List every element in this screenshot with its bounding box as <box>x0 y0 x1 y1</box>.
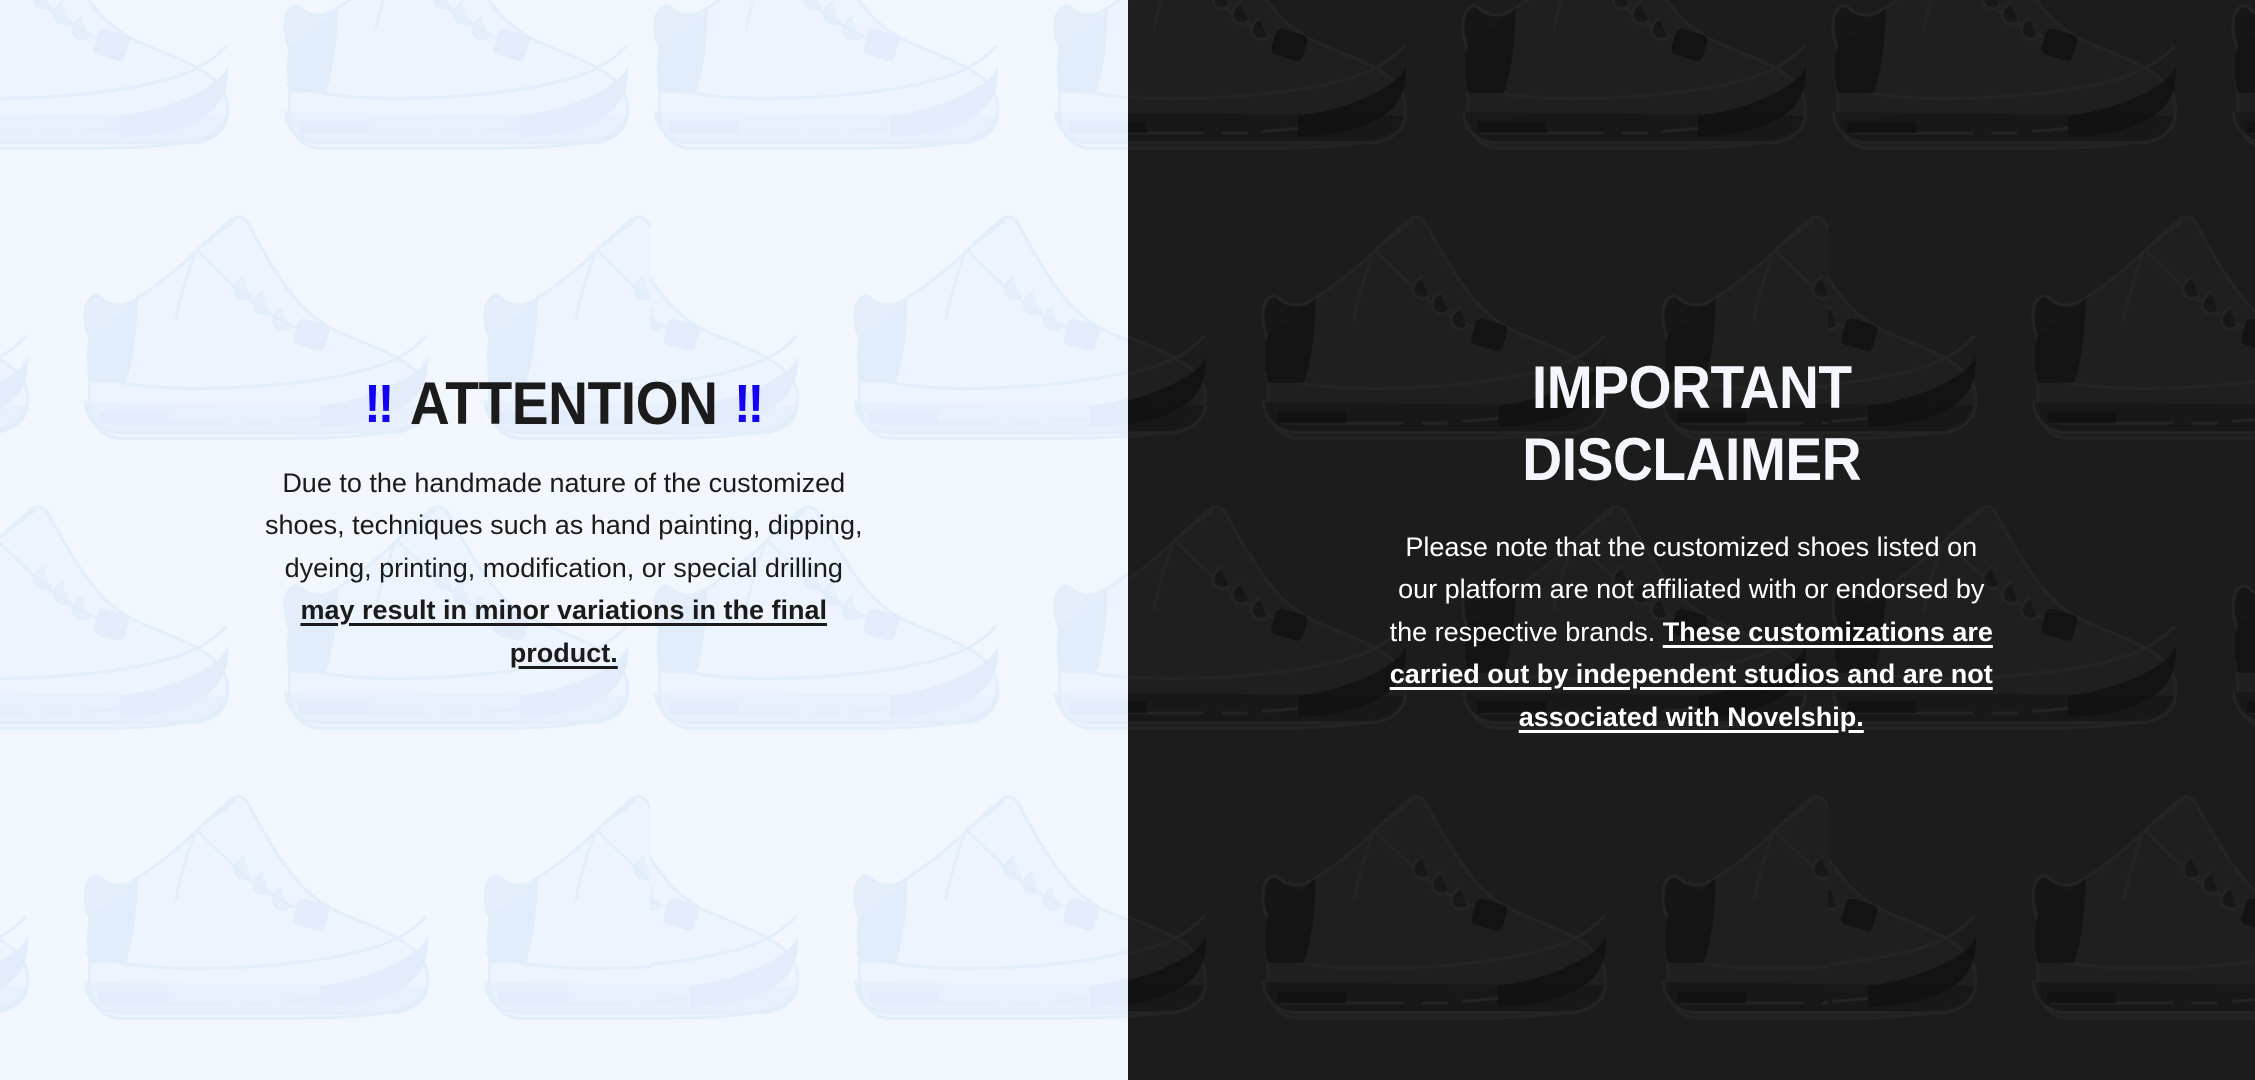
attention-body-normal: Due to the handmade nature of the custom… <box>265 468 862 583</box>
split-banner: ‼ATTENTION‼ Due to the handmade nature o… <box>0 0 2255 1080</box>
disclaimer-heading: IMPORTANT DISCLAIMER <box>1173 352 2210 496</box>
disclaimer-content: IMPORTANT DISCLAIMER Please note that th… <box>1128 0 2255 738</box>
disclaimer-body: Please note that the customized shoes li… <box>1386 526 1996 738</box>
double-exclamation-mark-icon: ‼ <box>364 377 393 431</box>
disclaimer-heading-line2: DISCLAIMER <box>1522 426 1861 493</box>
double-exclamation-mark-icon: ‼ <box>734 377 763 431</box>
attention-panel: ‼ATTENTION‼ Due to the handmade nature o… <box>0 0 1128 1080</box>
attention-content: ‼ATTENTION‼ Due to the handmade nature o… <box>0 0 1128 674</box>
disclaimer-panel: IMPORTANT DISCLAIMER Please note that th… <box>1128 0 2255 1080</box>
attention-body: Due to the handmade nature of the custom… <box>264 462 864 674</box>
attention-body-emphasis: may result in minor variations in the fi… <box>300 595 827 667</box>
disclaimer-heading-line1: IMPORTANT <box>1531 354 1851 421</box>
attention-heading-text: ATTENTION <box>410 370 718 437</box>
attention-heading: ‼ATTENTION‼ <box>45 374 1082 434</box>
